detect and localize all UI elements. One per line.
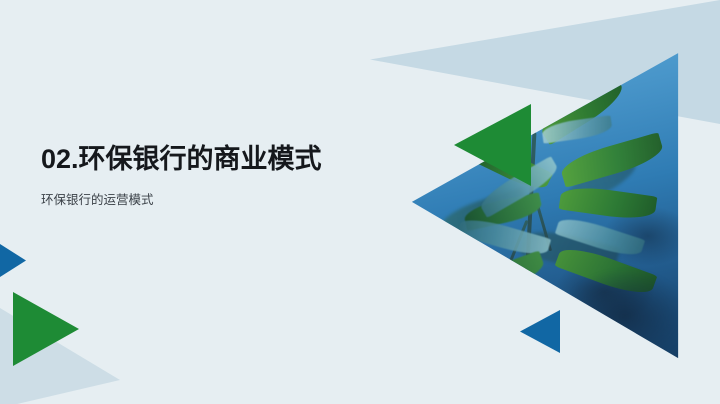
title-block: 02.环保银行的商业模式 环保银行的运营模式	[41, 142, 391, 209]
presentation-slide: 02.环保银行的商业模式 环保银行的运营模式	[0, 0, 720, 404]
page-subtitle: 环保银行的运营模式	[41, 192, 391, 210]
leaf-4	[559, 183, 658, 222]
page-title: 02.环保银行的商业模式	[41, 142, 391, 178]
left-blue-triangle-shape	[0, 244, 26, 277]
